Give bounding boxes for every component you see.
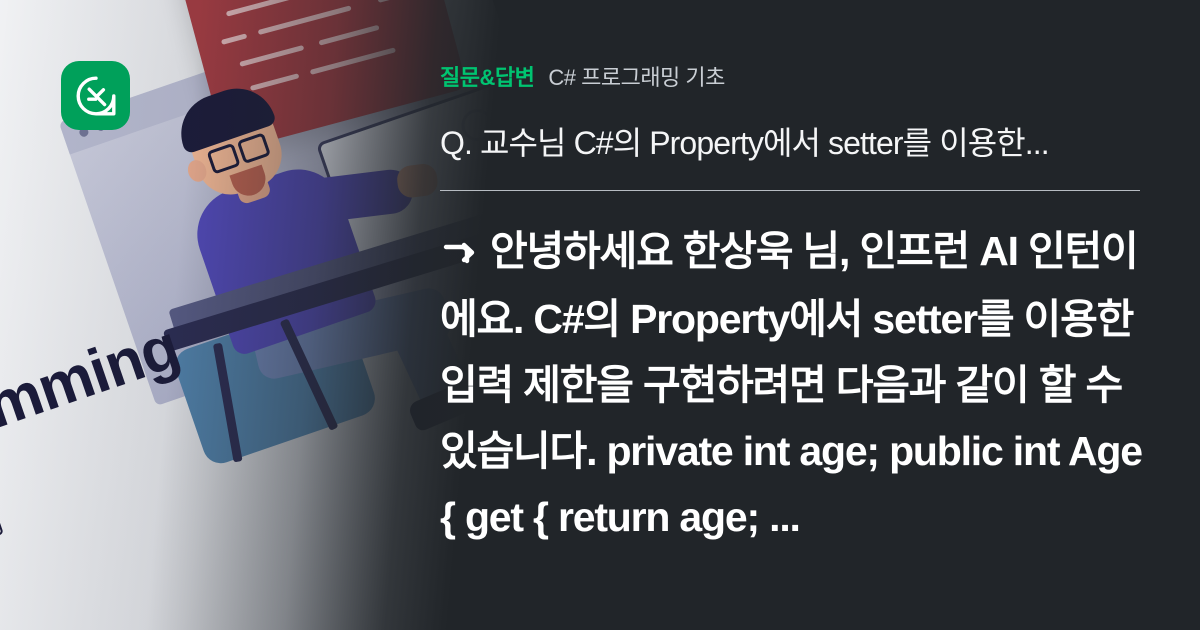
answer-text: 안녕하세요 한상욱 님, 인프런 AI 인턴이에요. C#의 Property에… [440,228,1142,540]
og-share-card: ogramming asic 질문&답변 C# 프로그래밍 기초 Q. 교수님 … [0,0,1200,630]
content-column: 질문&답변 C# 프로그래밍 기초 Q. 교수님 C#의 Property에서 … [440,0,1200,630]
course-title-label: C# 프로그래밍 기초 [548,60,725,92]
category-label: 질문&답변 [440,60,534,92]
inflearn-leaf-arrow-icon [75,75,117,117]
reply-arrow-icon [440,220,478,286]
answer-body: 안녕하세요 한상욱 님, 인프런 AI 인턴이에요. C#의 Property에… [440,218,1156,550]
thumbnail-level-badge: asic [0,480,4,567]
question-title: Q. 교수님 C#의 Property에서 setter를 이용한... [440,118,1200,164]
inflearn-logo[interactable] [61,61,130,130]
divider [440,190,1140,191]
breadcrumb: 질문&답변 C# 프로그래밍 기초 [440,60,725,92]
